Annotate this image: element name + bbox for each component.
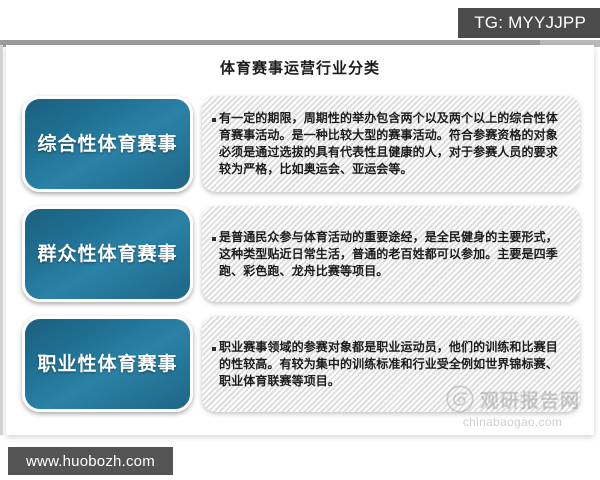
- category-row: 综合性体育赛事 有一定的期限，周期性的举办包含两个以及两个以上的综合性体育赛事活…: [6, 92, 594, 196]
- bullet-icon: [212, 347, 216, 351]
- card-left-edge: [0, 45, 3, 435]
- category-description-panel-comprehensive: 有一定的期限，周期性的举办包含两个以及两个以上的综合性体育赛事活动。是一种比较大…: [202, 96, 580, 192]
- category-description-text: 有一定的期限，周期性的举办包含两个以及两个以上的综合性体育赛事活动。是一种比较大…: [219, 110, 568, 178]
- category-description-text: 职业赛事领域的参赛对象都是职业运动员，他们的训练和比赛目的性较高。有较为集中的训…: [219, 339, 568, 390]
- category-description-panel-professional: 职业赛事领域的参赛对象都是职业运动员，他们的训练和比赛目的性较高。有较为集中的训…: [202, 316, 580, 412]
- content-card: 体育赛事运营行业分类 综合性体育赛事 有一定的期限，周期性的举办包含两个以及两个…: [6, 45, 594, 435]
- page-title: 体育赛事运营行业分类: [6, 57, 594, 78]
- category-row: 群众性体育赛事 是普通民众参与体育活动的重要途经，是全民健身的主要形式，这种类型…: [6, 202, 594, 306]
- category-row: 职业性体育赛事 职业赛事领域的参赛对象都是职业运动员，他们的训练和比赛目的性较高…: [6, 312, 594, 416]
- category-label-text: 群众性体育赛事: [31, 241, 183, 268]
- site-badge: www.huobozh.com: [8, 447, 173, 475]
- category-label-box-comprehensive[interactable]: 综合性体育赛事: [22, 96, 193, 192]
- category-label-box-mass[interactable]: 群众性体育赛事: [22, 206, 193, 302]
- category-label-text: 职业性体育赛事: [31, 351, 183, 378]
- site-badge-label: www.huobozh.com: [26, 453, 155, 470]
- category-description-text: 是普通民众参与体育活动的重要途经，是全民健身的主要形式，这种类型贴近日常生活，普…: [219, 229, 568, 280]
- category-list: 综合性体育赛事 有一定的期限，周期性的举办包含两个以及两个以上的综合性体育赛事活…: [6, 92, 594, 422]
- tg-badge: TG: MYYJJPP: [458, 8, 600, 38]
- category-label-box-professional[interactable]: 职业性体育赛事: [22, 316, 193, 412]
- tg-badge-label: TG: MYYJJPP: [474, 13, 586, 33]
- category-description-panel-mass: 是普通民众参与体育活动的重要途经，是全民健身的主要形式，这种类型贴近日常生活，普…: [202, 206, 580, 302]
- category-label-text: 综合性体育赛事: [31, 131, 183, 158]
- bullet-icon: [212, 237, 216, 241]
- bullet-icon: [212, 118, 216, 122]
